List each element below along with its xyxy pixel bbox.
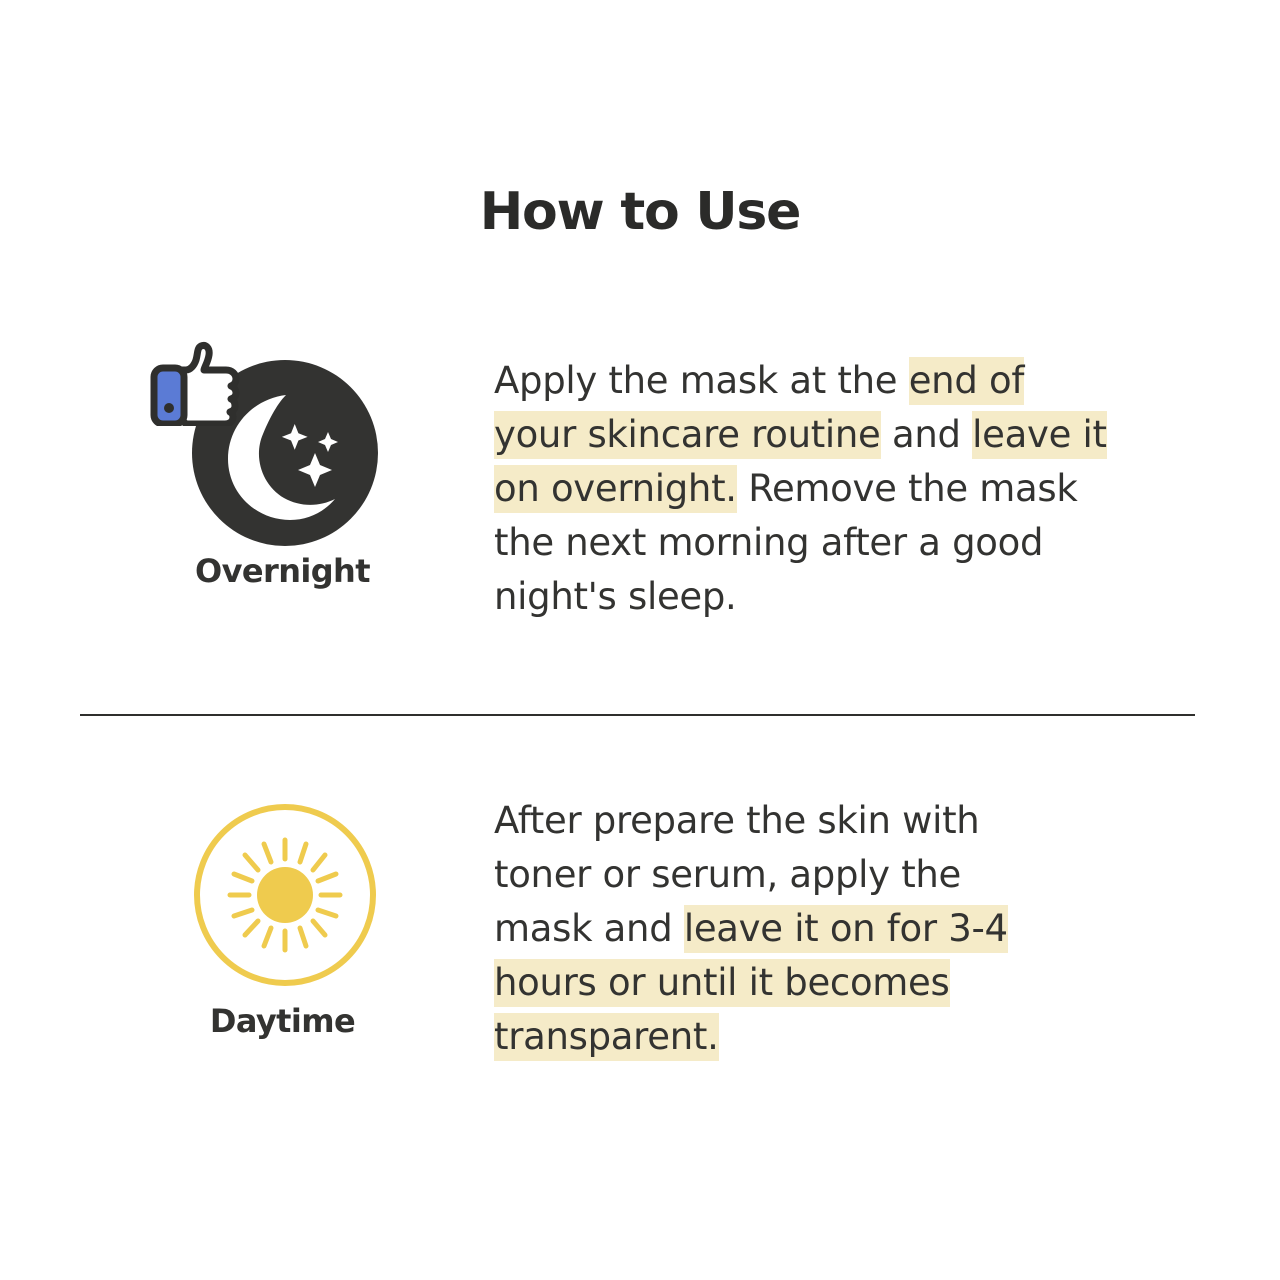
daytime-icon-wrap [140, 780, 425, 980]
thumbs-up-icon [150, 340, 246, 426]
section-daytime: Daytime After prepare the skin with tone… [0, 780, 1280, 1100]
page-title: How to Use [0, 182, 1280, 242]
overnight-paragraph: Apply the mask at the end of your skinca… [494, 354, 1114, 624]
section-overnight: Overnight Apply the mask at the end of y… [0, 340, 1280, 660]
overnight-label: Overnight [140, 552, 425, 590]
daytime-icon-column: Daytime [140, 780, 425, 1040]
sun-circle-icon [192, 802, 378, 988]
highlighted-text: end of your skincare routine [494, 357, 1024, 459]
section-divider [80, 714, 1195, 716]
daytime-label: Daytime [140, 1002, 425, 1040]
how-to-use-page: How to Use [0, 0, 1280, 1280]
overnight-icon-wrap [140, 340, 425, 540]
daytime-paragraph: After prepare the skin with toner or ser… [494, 794, 1054, 1064]
overnight-icon-column: Overnight [140, 340, 425, 590]
highlighted-text: leave it on for 3-4 hours or until it be… [494, 905, 1008, 1061]
